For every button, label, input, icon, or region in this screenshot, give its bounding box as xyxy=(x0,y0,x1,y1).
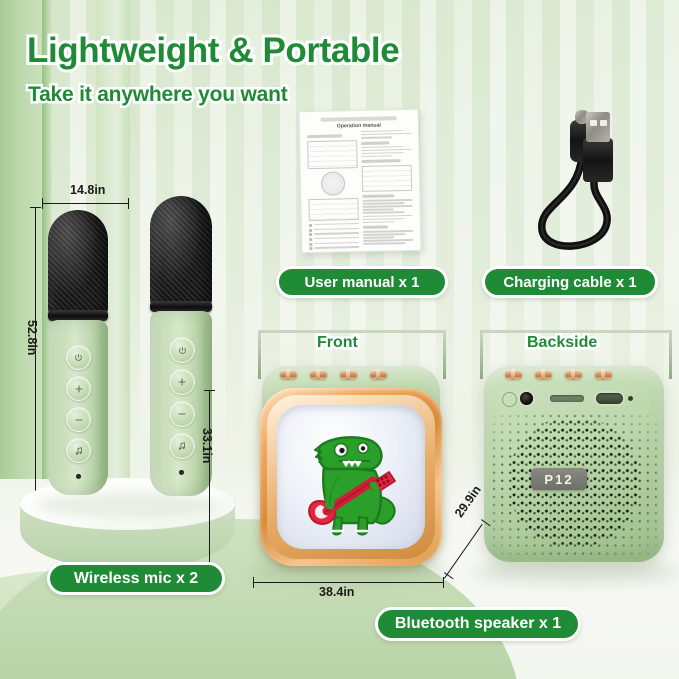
label-front: Front xyxy=(317,334,358,352)
dimension-mic-width-tick-left xyxy=(42,198,43,209)
infographic-canvas: Lightweight & Portable Take it anywhere … xyxy=(0,0,679,679)
user-manual-document: Operation manual xyxy=(299,109,422,253)
manual-list-item xyxy=(309,242,359,246)
mic-2-led-indicator xyxy=(179,470,184,475)
manual-list-item xyxy=(309,228,359,232)
wall-panel-left xyxy=(0,0,46,505)
mic-2-grille-head xyxy=(150,196,212,306)
dimension-speaker-height: 33.1in xyxy=(200,428,214,463)
usb-c-port[interactable] xyxy=(596,393,623,404)
label-backside: Backside xyxy=(527,334,597,352)
dimension-mic-height: 52.8in xyxy=(25,320,39,355)
bluetooth-speaker-backside: P12 xyxy=(462,330,679,570)
plus-icon xyxy=(177,377,187,387)
manual-list-item xyxy=(309,237,359,241)
manual-list-item xyxy=(309,246,359,250)
usb-a-connector xyxy=(586,112,610,142)
mic-1-power-button[interactable] xyxy=(66,345,91,370)
manual-header-band xyxy=(320,116,397,122)
manual-diagram-box xyxy=(307,140,358,169)
page-subtitle: Take it anywhere you want xyxy=(28,83,288,107)
usb-a-housing xyxy=(583,138,613,182)
backside-power-symbol xyxy=(502,392,517,407)
dimension-mic-width-tick-right xyxy=(128,198,129,209)
manual-section-head xyxy=(363,226,388,230)
front-display-screen xyxy=(277,405,425,549)
dimension-speaker-height-line xyxy=(209,390,210,567)
manual-list-item xyxy=(309,223,359,227)
charging-indicator-led xyxy=(628,396,633,401)
manual-diagram-box-2 xyxy=(308,198,358,221)
wireless-microphone-1 xyxy=(48,210,108,495)
minus-icon xyxy=(177,409,187,419)
mic-2-volume-up-button[interactable] xyxy=(169,369,195,395)
dimension-speaker-height-tick-top xyxy=(204,390,215,391)
manual-columns xyxy=(307,130,414,253)
manual-diagram-box-3 xyxy=(362,165,413,192)
front-toggle-3[interactable] xyxy=(340,370,357,379)
tf-card-slot[interactable] xyxy=(550,395,584,402)
mic-2-power-button[interactable] xyxy=(169,337,195,363)
dimension-mic-width-line xyxy=(42,203,129,204)
backside-toggle-1[interactable] xyxy=(505,370,522,379)
mic-1-led-indicator xyxy=(76,474,81,479)
manual-section-head xyxy=(362,159,401,163)
minus-icon xyxy=(74,415,84,425)
label-bluetooth-speaker: Bluetooth speaker x 1 xyxy=(375,607,581,641)
manual-section-head xyxy=(362,194,394,198)
front-toggle-1[interactable] xyxy=(280,370,297,379)
backside-toggle-2[interactable] xyxy=(535,370,552,379)
mic-1-volume-down-button[interactable] xyxy=(66,407,91,432)
manual-section-head xyxy=(361,141,389,145)
dimension-speaker-width-tick-left xyxy=(253,577,254,588)
aux-jack-port[interactable] xyxy=(520,392,533,405)
mic-2-volume-down-button[interactable] xyxy=(169,401,195,427)
dimension-mic-height-line xyxy=(35,207,36,507)
bluetooth-speaker-front xyxy=(240,330,456,570)
music-note-icon xyxy=(74,446,84,456)
backside-toggle-4[interactable] xyxy=(595,370,612,379)
manual-section-head xyxy=(307,134,342,138)
dimension-speaker-width-line xyxy=(253,582,444,583)
manual-column-left xyxy=(307,131,360,253)
power-icon xyxy=(74,353,83,362)
dimension-mic-width: 14.8in xyxy=(70,183,105,197)
speaker-model-plate: P12 xyxy=(531,468,587,490)
dimension-speaker-width: 38.4in xyxy=(319,585,354,599)
music-note-icon xyxy=(177,441,187,451)
front-toggle-2[interactable] xyxy=(310,370,327,379)
label-wireless-mic: Wireless mic x 2 xyxy=(47,562,225,595)
mic-1-volume-up-button[interactable] xyxy=(66,376,91,401)
page-title: Lightweight & Portable xyxy=(27,31,399,71)
front-toggle-4[interactable] xyxy=(370,370,387,379)
backside-toggle-3[interactable] xyxy=(565,370,582,379)
label-charging-cable: Charging cable x 1 xyxy=(482,266,658,298)
manual-column-right xyxy=(361,130,414,253)
power-icon xyxy=(178,346,187,355)
dinosaur-guitar-artwork xyxy=(277,405,425,549)
plus-icon xyxy=(74,384,84,394)
mic-1-grille-head xyxy=(48,210,108,315)
dimension-speaker-width-tick-right xyxy=(443,577,444,588)
dimension-mic-height-tick-top xyxy=(30,207,41,208)
mic-2-echo-button[interactable] xyxy=(169,433,195,459)
label-user-manual: User manual x 1 xyxy=(276,266,448,298)
manual-diagram-circle xyxy=(321,171,345,195)
charging-cable xyxy=(520,108,665,253)
mic-1-echo-button[interactable] xyxy=(66,438,91,463)
manual-list-item xyxy=(309,232,359,236)
manual-title: Operation manual xyxy=(307,122,411,130)
